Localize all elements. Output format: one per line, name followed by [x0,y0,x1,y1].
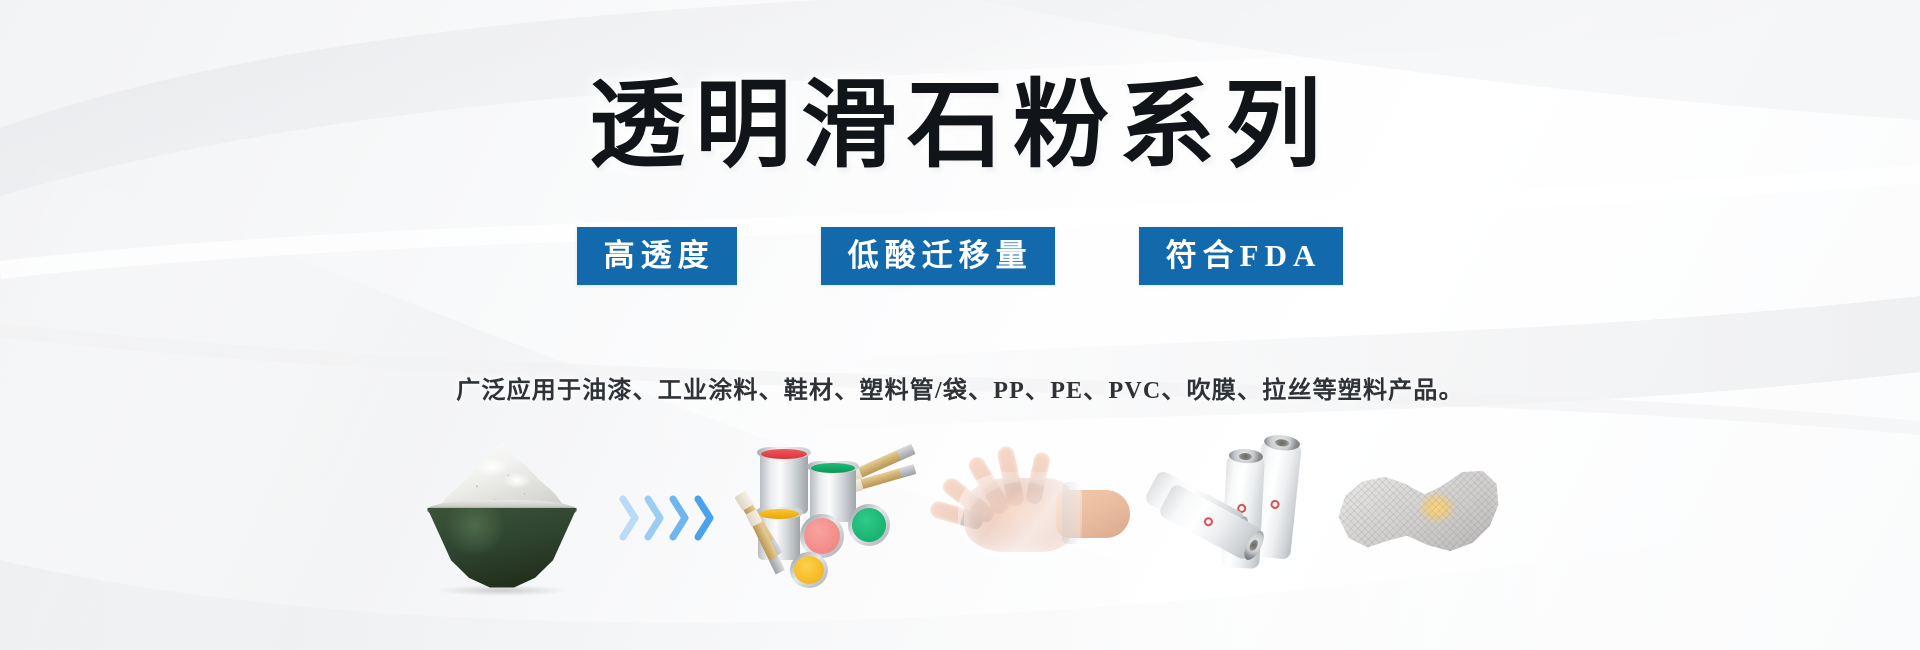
glove-film-sheen [958,472,1082,558]
gloved-hands-image [946,438,1136,598]
shoe-sole-texture [1332,456,1504,574]
paint-lid-green [848,504,890,546]
product-banner: 透明滑石粉系列 高透度 低酸迁移量 符合FDA 广泛应用于油漆、工业涂料、鞋材、… [0,0,1920,650]
paint-cans-image [736,438,946,598]
chevron-right-icon-1 [619,495,641,541]
paint-can-red [760,452,808,514]
title-container: 透明滑石粉系列 [0,78,1920,174]
feature-badge-fda-compliant[interactable]: 符合FDA [1139,227,1344,285]
product-illustration-strip [0,430,1920,605]
chevron-right-icon-3 [669,495,691,541]
feature-badge-high-transparency[interactable]: 高透度 [577,227,737,285]
plastic-film-rolls-image [1136,438,1326,598]
chevron-right-icon-4 [694,495,716,541]
paint-can-green [810,466,856,522]
page-title: 透明滑石粉系列 [589,78,1331,174]
bowl-body [427,508,577,588]
chevron-right-icon-2 [644,495,666,541]
subtitle-container: 广泛应用于油漆、工业涂料、鞋材、塑料管/袋、PP、PE、PVC、吹膜、拉丝等塑料… [0,370,1920,405]
process-arrow-group [600,438,736,598]
paint-lid-pink [800,514,844,558]
talc-powder-bowl-image [405,438,600,598]
applications-description: 广泛应用于油漆、工业涂料、鞋材、塑料管/袋、PP、PE、PVC、吹膜、拉丝等塑料… [456,370,1464,405]
shoe-sole-image [1326,438,1516,598]
paint-lid-yellow [790,552,828,588]
feature-badge-low-acid-migration[interactable]: 低酸迁移量 [821,227,1055,285]
feature-badge-row: 高透度 低酸迁移量 符合FDA [0,227,1920,285]
